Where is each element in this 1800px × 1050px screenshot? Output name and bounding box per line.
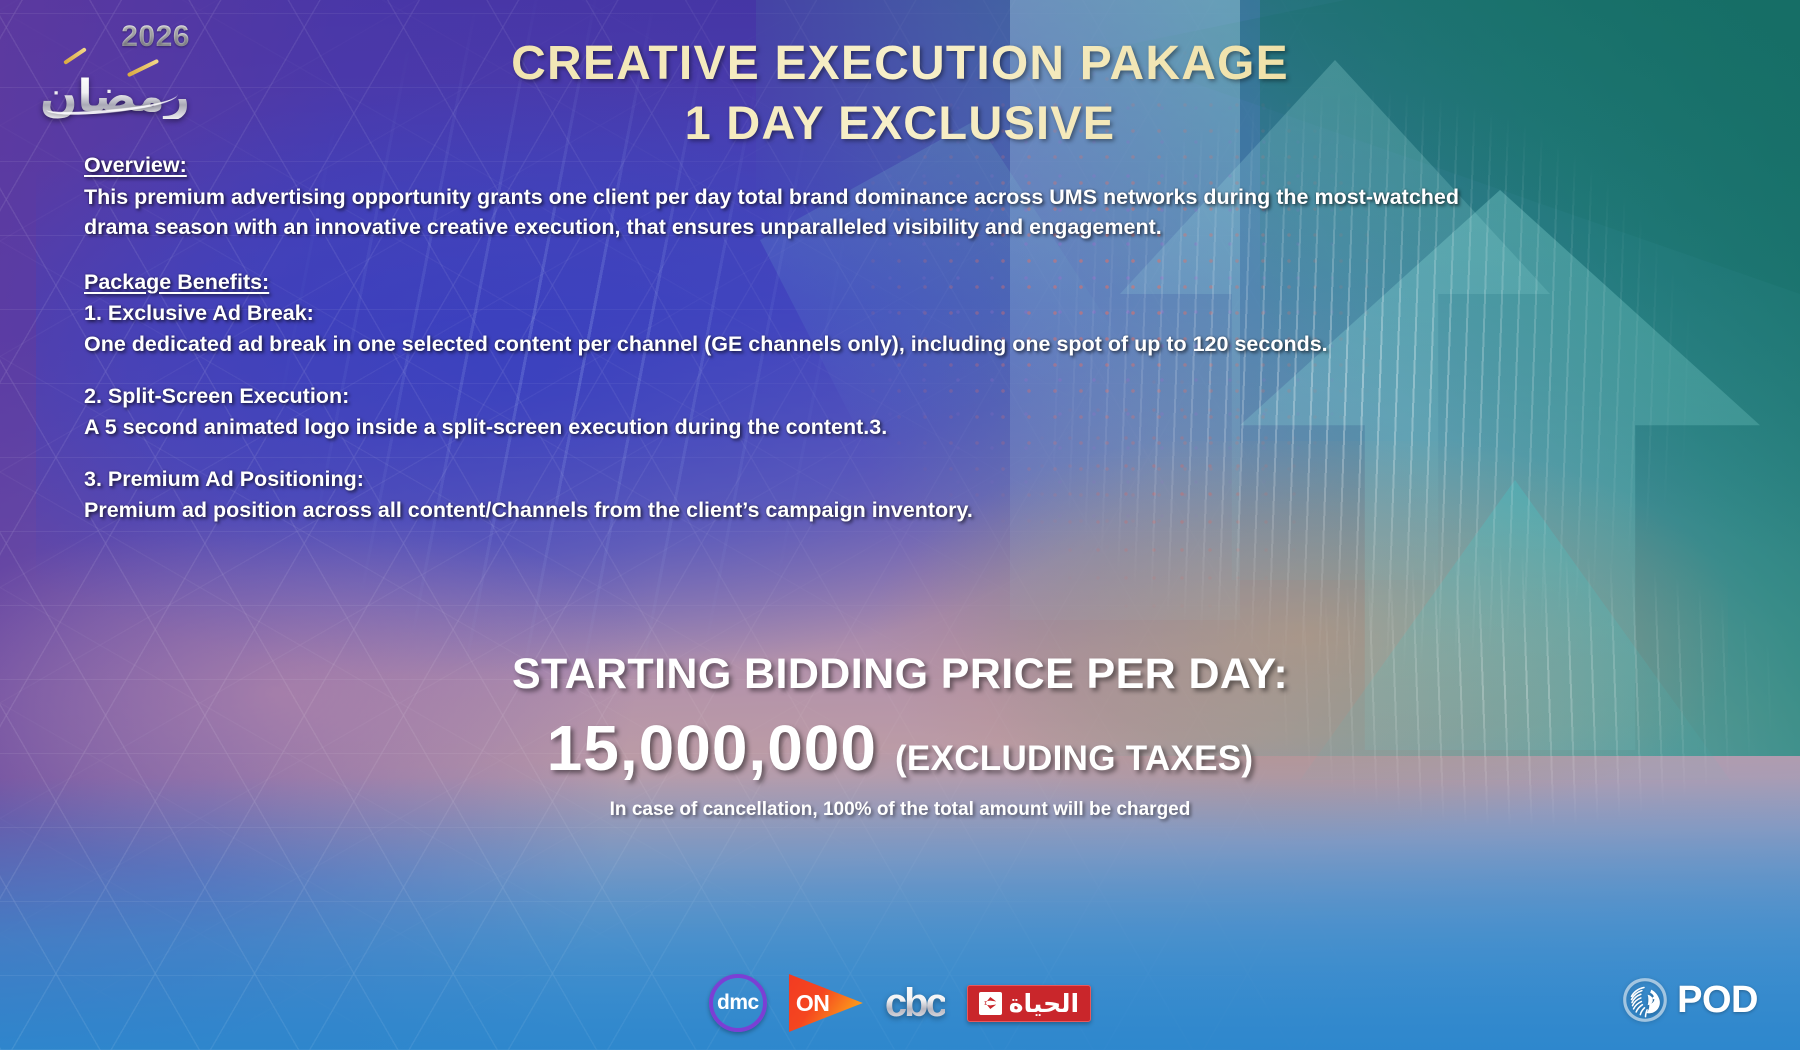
overview-heading: Overview:	[84, 150, 1514, 181]
pricing-block: STARTING BIDDING PRICE PER DAY: 15,000,0…	[0, 650, 1800, 821]
title-line-2: 1 DAY EXCLUSIVE	[0, 94, 1800, 153]
benefit-body: One dedicated ad break in one selected c…	[84, 329, 1514, 360]
overview-text: This premium advertising opportunity gra…	[84, 182, 1514, 243]
on-logo: ON	[789, 974, 863, 1032]
pod-logo: POD	[1619, 974, 1758, 1026]
al-hayah-logo-label: الحياة	[1009, 991, 1079, 1016]
dmc-logo-label: dmc	[717, 991, 759, 1015]
benefit-title: 3. Premium Ad Positioning:	[84, 464, 1514, 495]
benefit-body: A 5 second animated logo inside a split-…	[84, 412, 1514, 443]
benefit-title: 1. Exclusive Ad Break:	[84, 298, 1514, 329]
benefit-item: 3. Premium Ad Positioning: Premium ad po…	[84, 464, 1514, 525]
cancellation-note: In case of cancellation, 100% of the tot…	[0, 799, 1800, 821]
cbc-logo-label: cbc	[885, 981, 945, 1025]
cbc-logo: cbc	[885, 981, 945, 1026]
benefit-item: 2. Split-Screen Execution: A 5 second an…	[84, 381, 1514, 442]
price-tax-note: (EXCLUDING TAXES)	[895, 739, 1253, 779]
body-copy: Overview: This premium advertising oppor…	[84, 150, 1514, 525]
on-logo-label: ON	[789, 990, 830, 1017]
al-hayah-logo: الحياة	[967, 985, 1091, 1022]
pod-logo-label: POD	[1677, 979, 1758, 1022]
title-line-1: CREATIVE EXECUTION PAKAGE	[0, 34, 1800, 94]
pricing-row: 15,000,000 (EXCLUDING TAXES)	[0, 711, 1800, 785]
benefit-body: Premium ad position across all content/C…	[84, 495, 1514, 526]
page-title: CREATIVE EXECUTION PAKAGE 1 DAY EXCLUSIV…	[0, 34, 1800, 153]
slide-canvas: 2026 رمضان CREATIVE EXECUTION PAKAGE 1 D…	[0, 0, 1800, 1050]
al-hayah-diamond-icon	[979, 992, 1002, 1015]
channel-logo-strip: dmc ON cbc الحياة	[0, 974, 1800, 1032]
dmc-logo: dmc	[709, 974, 767, 1032]
price-amount: 15,000,000	[547, 711, 877, 785]
lion-head-icon	[1619, 974, 1671, 1026]
pricing-heading: STARTING BIDDING PRICE PER DAY:	[0, 650, 1800, 699]
benefits-heading: Package Benefits:	[84, 267, 1514, 298]
benefit-title: 2. Split-Screen Execution:	[84, 381, 1514, 412]
benefit-item: 1. Exclusive Ad Break: One dedicated ad …	[84, 298, 1514, 359]
